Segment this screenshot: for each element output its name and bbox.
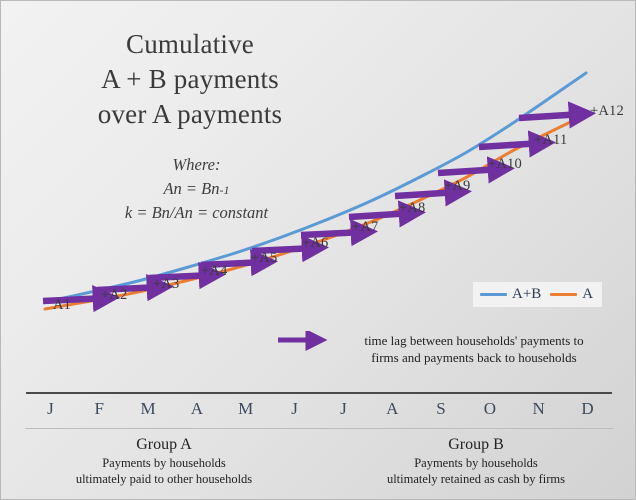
chart-legend: A+BA — [473, 282, 602, 307]
point-label-a1: A1 — [53, 297, 71, 314]
group-b-sub-2: ultimately retained as cash by firms — [331, 471, 621, 487]
month-tick-9: O — [465, 399, 514, 419]
point-label-plusa9: +A9 — [444, 178, 471, 195]
point-label-plusa5: +A5 — [251, 250, 278, 267]
point-label-plusa10: +A10 — [488, 156, 522, 173]
legend-label: A — [582, 286, 593, 303]
point-label-plusa7: +A7 — [352, 219, 379, 236]
note-text: time lag between households' payments to… — [343, 331, 605, 366]
month-tick-2: M — [124, 399, 173, 419]
group-separator — [25, 428, 613, 429]
group-a-sub-2: ultimately paid to other households — [19, 471, 309, 487]
point-label-plusa4: +A4 — [201, 263, 228, 280]
slide-canvas: Cumulative A + B payments over A payment… — [0, 0, 636, 500]
point-label-plusa12: +A12 — [590, 103, 624, 120]
month-tick-10: N — [514, 399, 563, 419]
point-label-plusa6: +A6 — [302, 235, 329, 252]
group-b-title: Group B — [331, 436, 621, 454]
note-line-1: time lag between households' payments to — [343, 332, 605, 349]
month-tick-7: A — [368, 399, 417, 419]
month-tick-0: J — [26, 399, 75, 419]
legend-label: A+B — [512, 286, 541, 303]
note-line-2: firms and payments back to households — [343, 349, 605, 366]
x-axis-month-labels: JFMAMJJASOND — [26, 399, 612, 419]
point-label-plusa2: +A2 — [101, 287, 128, 304]
legend-entry-a[interactable]: A — [550, 286, 593, 303]
month-tick-8: S — [417, 399, 466, 419]
month-tick-11: D — [563, 399, 612, 419]
group-a-title: Group A — [19, 436, 309, 454]
legend-swatch-icon — [480, 293, 507, 296]
point-label-plusa8: +A8 — [399, 200, 426, 217]
chart-series-layer — [45, 73, 589, 309]
month-tick-5: J — [270, 399, 319, 419]
group-a-caption: Group A Payments by households ultimatel… — [19, 436, 309, 488]
x-axis-line — [26, 392, 612, 394]
lag-arrow-icon — [519, 114, 583, 118]
note-arrow-icon — [277, 331, 331, 351]
group-a-sub-1: Payments by households — [19, 455, 309, 471]
group-b-sub-1: Payments by households — [331, 455, 621, 471]
group-b-caption: Group B Payments by households ultimatel… — [331, 436, 621, 488]
month-tick-6: J — [319, 399, 368, 419]
lag-arrows-layer — [43, 114, 583, 301]
chart-line-aplusb — [45, 73, 586, 302]
point-label-plusa3: +A3 — [153, 276, 180, 293]
legend-entry-aplusb[interactable]: A+B — [480, 286, 541, 303]
month-tick-4: M — [221, 399, 270, 419]
time-lag-annotation: time lag between households' payments to… — [277, 331, 605, 366]
month-tick-1: F — [75, 399, 124, 419]
point-label-plusa11: +A11 — [534, 132, 567, 149]
legend-swatch-icon — [550, 293, 577, 296]
month-tick-3: A — [172, 399, 221, 419]
